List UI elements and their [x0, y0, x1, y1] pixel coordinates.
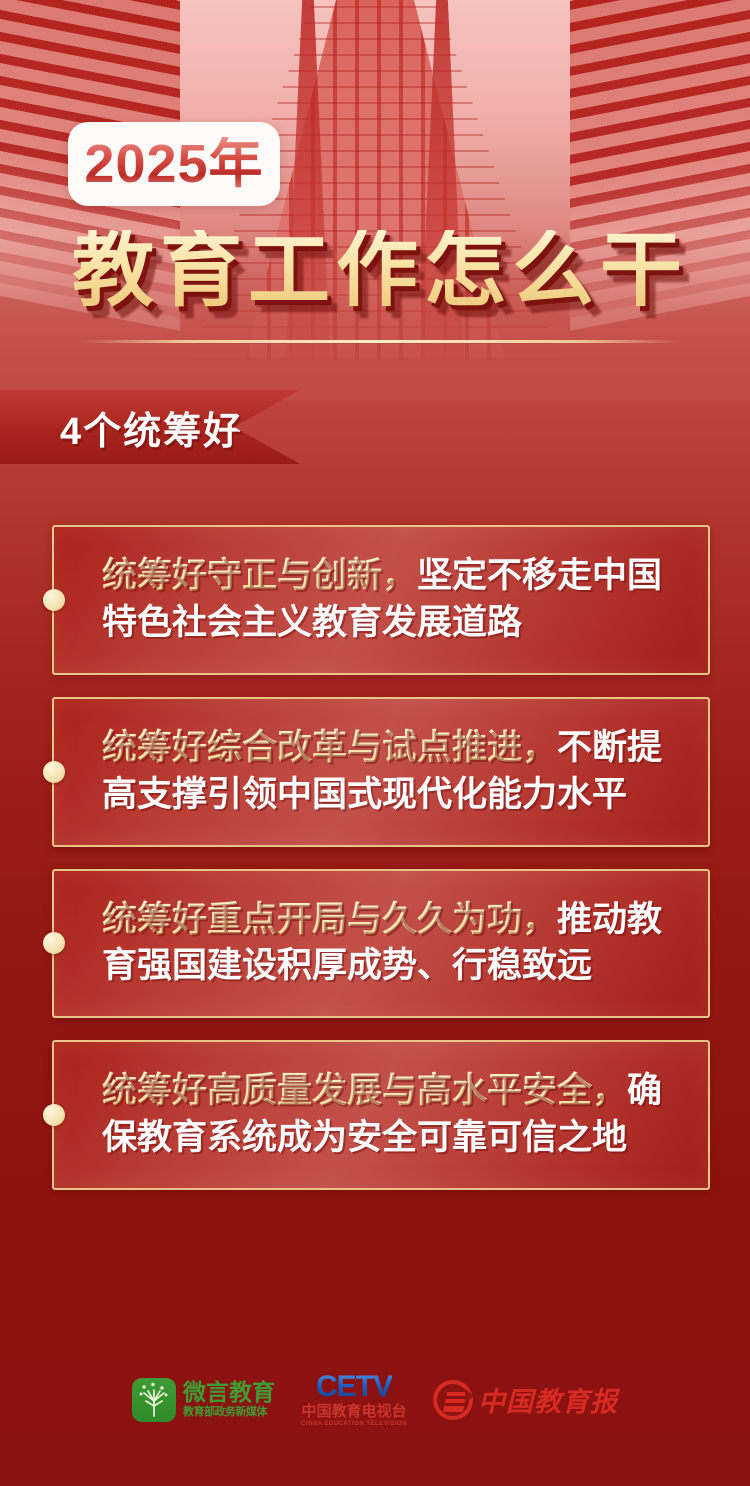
bullet-dot-icon	[43, 589, 65, 611]
logo-china-education-daily: 中国教育报	[433, 1380, 618, 1420]
statement-card-text: 统筹好高质量发展与高水平安全，确保教育系统成为安全可靠可信之地	[102, 1068, 686, 1162]
logo-china-education-daily-name: 中国教育报	[478, 1380, 618, 1419]
statement-highlight: 统筹好守正与创新，	[102, 556, 417, 595]
logo-weiyan-subtitle: 教育部政务新媒体	[183, 1407, 275, 1418]
dandelion-icon	[132, 1378, 176, 1422]
section-banner-label: 4个统筹好	[60, 400, 243, 455]
statement-card-text: 统筹好重点开局与久久为功，推动教育强国建设积厚成势、行稳致远	[102, 897, 686, 991]
logo-weiyan-jiaoyu: 微言教育 教育部政务新媒体	[132, 1378, 275, 1422]
statement-card-text: 统筹好综合改革与试点推进，不断提高支撑引领中国式现代化能力水平	[102, 725, 686, 819]
bullet-dot-icon	[43, 761, 65, 783]
statement-card: 统筹好综合改革与试点推进，不断提高支撑引领中国式现代化能力水平	[52, 697, 710, 847]
logo-cetv: CETV 中国教育电视台 CHINA EDUCATION TELEVISION	[301, 1372, 407, 1427]
statement-highlight: 统筹好高质量发展与高水平安全，	[102, 1071, 627, 1110]
statement-card-list: 统筹好守正与创新，坚定不移走中国特色社会主义教育发展道路 统筹好综合改革与试点推…	[52, 525, 710, 1212]
statement-card-text: 统筹好守正与创新，坚定不移走中国特色社会主义教育发展道路	[102, 553, 686, 647]
statement-card: 统筹好守正与创新，坚定不移走中国特色社会主义教育发展道路	[52, 525, 710, 675]
statement-card: 统筹好重点开局与久久为功，推动教育强国建设积厚成势、行稳致远	[52, 869, 710, 1019]
section-banner: 4个统筹好	[0, 390, 300, 464]
page-title: 教育工作怎么干	[72, 230, 688, 312]
year-badge-label: 2025年	[84, 137, 263, 191]
poster-root: 2025年 教育工作怎么干 4个统筹好 统筹好守正与创新，坚定不移走中国特色社会…	[0, 0, 750, 1486]
logo-cetv-name-cn: 中国教育电视台	[301, 1404, 406, 1419]
footer-logo-bar: 微言教育 教育部政务新媒体 CETV 中国教育电视台 CHINA EDUCATI…	[0, 1372, 750, 1427]
bullet-dot-icon	[43, 932, 65, 954]
logo-weiyan-text: 微言教育 教育部政务新媒体	[183, 1381, 275, 1418]
statement-highlight: 统筹好综合改革与试点推进，	[102, 728, 557, 767]
china-education-daily-icon	[433, 1380, 473, 1420]
statement-card: 统筹好高质量发展与高水平安全，确保教育系统成为安全可靠可信之地	[52, 1040, 710, 1190]
logo-cetv-name-en: CHINA EDUCATION TELEVISION	[301, 1421, 407, 1427]
title-divider	[80, 340, 680, 343]
bullet-dot-icon	[43, 1104, 65, 1126]
year-badge: 2025年	[68, 122, 280, 206]
logo-weiyan-name: 微言教育	[183, 1381, 275, 1404]
logo-cetv-acronym: CETV	[316, 1372, 392, 1402]
statement-highlight: 统筹好重点开局与久久为功，	[102, 900, 557, 939]
